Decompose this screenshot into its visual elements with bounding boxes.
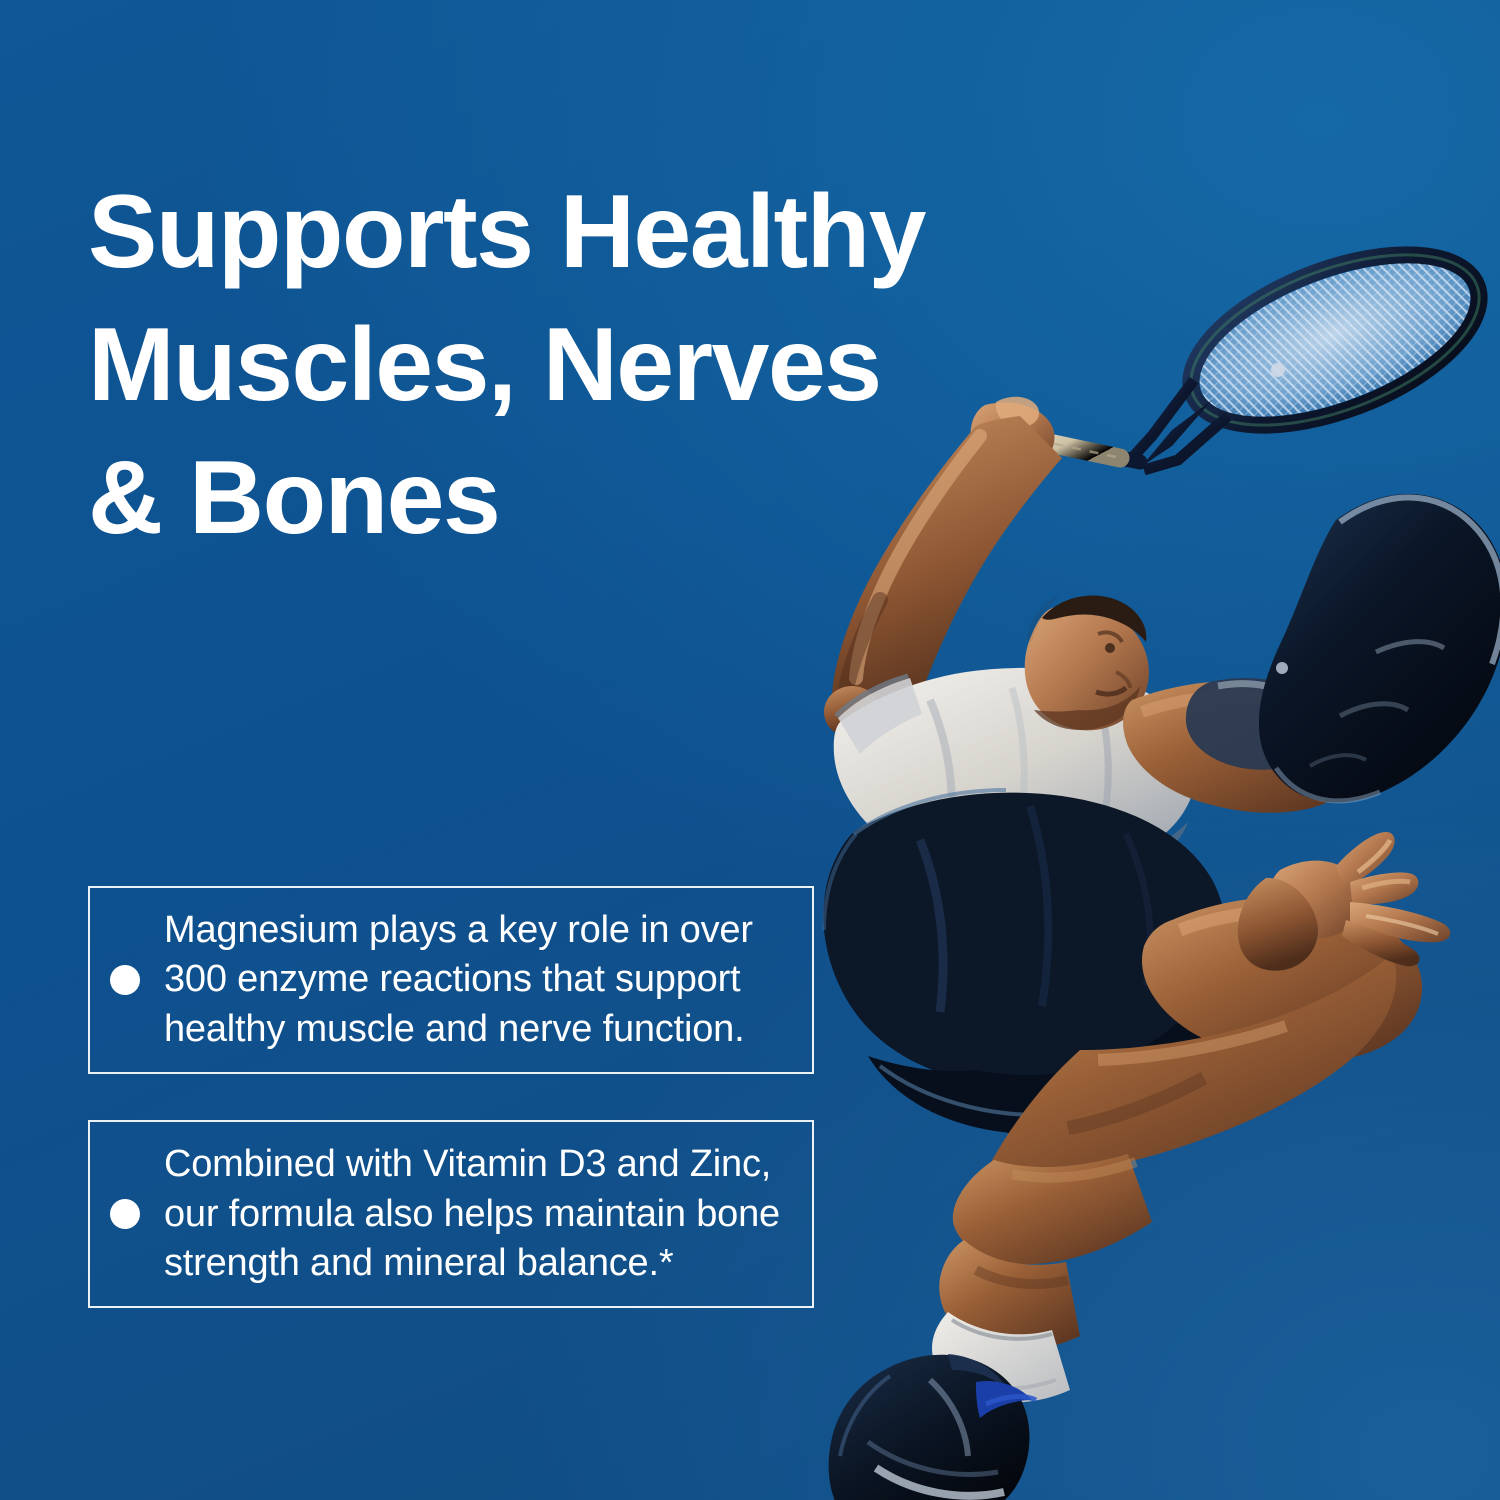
page-title: Supports Healthy Muscles, Nerves & Bones (88, 166, 1158, 565)
list-item: Combined with Vitamin D3 and Zinc, our f… (88, 1120, 814, 1308)
promo-canvas: Supports Healthy Muscles, Nerves & Bones… (0, 0, 1500, 1500)
right-leg (939, 897, 1422, 1351)
bullet-dot-icon (110, 1199, 140, 1229)
list-item-text: Magnesium plays a key role in over 300 e… (164, 906, 790, 1054)
white-shirt-torso (834, 668, 1197, 894)
tennis-shoe (829, 1354, 1036, 1500)
raised-leg (1123, 678, 1356, 813)
open-hand (1238, 832, 1450, 971)
benefit-list: Magnesium plays a key role in over 300 e… (88, 886, 814, 1308)
raised-shoe-sole (1259, 494, 1500, 802)
navy-shorts (823, 790, 1232, 1135)
white-sock (932, 1312, 1070, 1403)
bullet-dot-icon (110, 965, 140, 995)
list-item-text: Combined with Vitamin D3 and Zinc, our f… (164, 1140, 790, 1288)
list-item: Magnesium plays a key role in over 300 e… (88, 886, 814, 1074)
head (1025, 594, 1149, 730)
